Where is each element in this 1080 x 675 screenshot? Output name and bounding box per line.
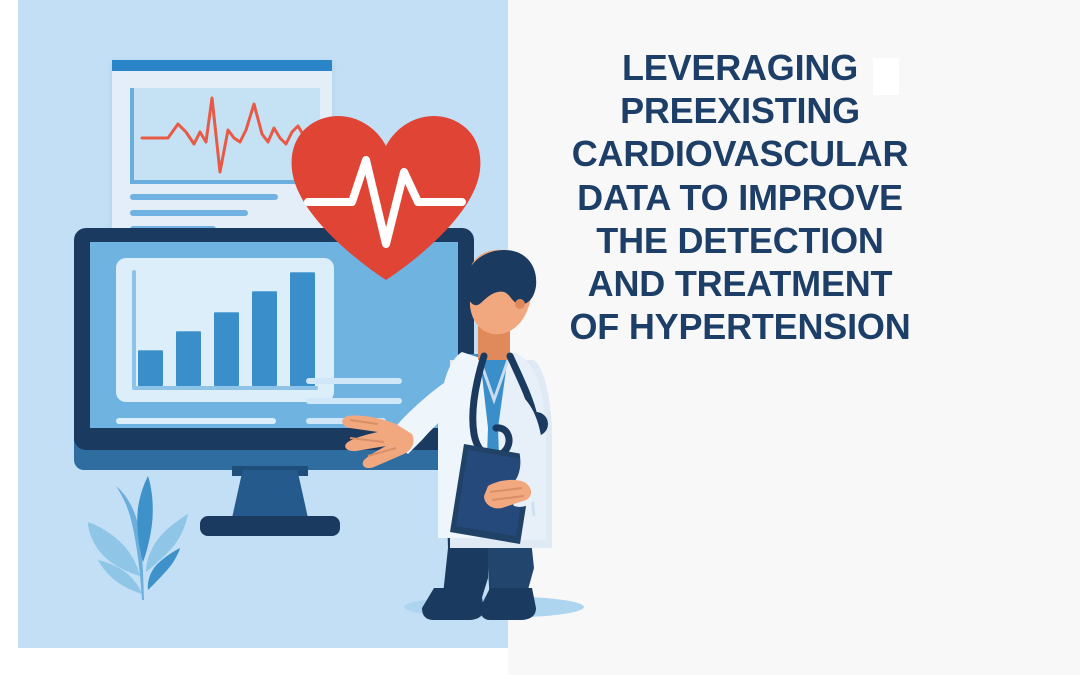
- bar-2: [176, 331, 201, 386]
- title-line-7: OF HYPERTENSION: [520, 305, 960, 348]
- title-line-3: CARDIOVASCULAR: [520, 132, 960, 175]
- chart-y-axis: [132, 270, 136, 388]
- plant-leaves-icon: [86, 468, 198, 600]
- card-text-line: [130, 210, 248, 216]
- text-cursor-overlay: [873, 58, 899, 95]
- monitor-stand-neck: [232, 470, 308, 518]
- bar-5: [290, 272, 315, 386]
- title-line-6: AND TREATMENT: [520, 262, 960, 305]
- title-line-5: THE DETECTION: [520, 219, 960, 262]
- card-text-line: [130, 194, 278, 200]
- card-header-bar: [112, 60, 332, 71]
- monitor-stand-base: [200, 516, 340, 536]
- bar-4: [252, 291, 277, 386]
- bar-3: [214, 312, 239, 386]
- screen-text-line: [116, 418, 276, 424]
- chart-x-axis: [132, 386, 318, 390]
- title-line-4: DATA TO IMPROVE: [520, 176, 960, 219]
- poster-canvas: LEVERAGING PREEXISTING CARDIOVASCULAR DA…: [0, 0, 1080, 675]
- title-line-2: PREEXISTING: [520, 89, 960, 132]
- bar-1: [138, 350, 163, 386]
